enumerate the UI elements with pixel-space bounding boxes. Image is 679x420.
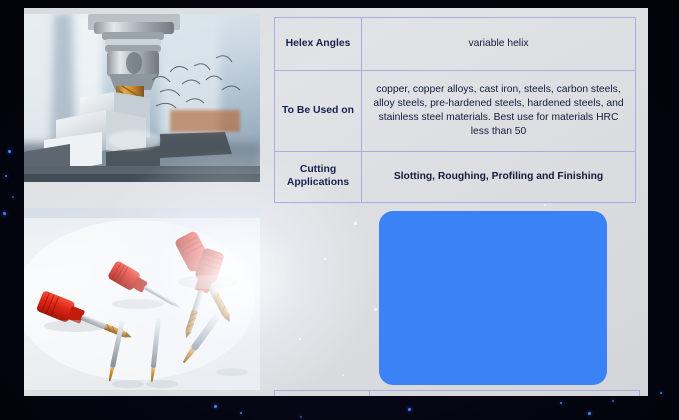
table-row: Helex Angles variable helix <box>275 18 636 71</box>
row-value-helex-angles: variable helix <box>362 18 636 71</box>
row-value-cutting-applications: Slotting, Roughing, Profiling and Finish… <box>362 152 636 203</box>
cnc-milling-machine-photo <box>24 14 260 182</box>
sparkle-dot <box>588 412 591 415</box>
table-row: To Be Used on copper, copper alloys, cas… <box>275 71 636 152</box>
content-panel: Helex Angles variable helix To Be Used o… <box>24 8 648 396</box>
sparkle-dot <box>560 402 562 404</box>
row-label-material: Material <box>275 391 370 397</box>
sparkle-dot <box>5 175 7 177</box>
sparkle-dot <box>612 400 614 402</box>
product-info-graphic: Helex Angles variable helix To Be Used o… <box>0 0 679 420</box>
particle-dot <box>374 308 377 311</box>
table-row: Cutting Applications Slotting, Roughing,… <box>275 152 636 203</box>
highlight-block <box>379 211 607 385</box>
sparkle-dot <box>3 212 6 215</box>
row-value-material: Micrograin Carbide <box>370 391 640 397</box>
particle-dot <box>299 338 301 340</box>
sparkle-dot <box>660 392 662 394</box>
row-label-helex-angles: Helex Angles <box>275 18 362 71</box>
sparkle-dot <box>240 412 242 414</box>
table-row: Material Micrograin Carbide <box>275 391 640 397</box>
row-label-cutting-applications: Cutting Applications <box>275 152 362 203</box>
sparkle-dot <box>300 416 302 418</box>
construction-table: Material Micrograin Carbide FINISH COATI… <box>274 390 640 396</box>
sparkle-dot <box>408 408 411 411</box>
particle-dot <box>454 360 456 362</box>
row-value-to-be-used-on: copper, copper alloys, cast iron, steels… <box>362 71 636 152</box>
particle-dot <box>324 258 326 260</box>
particle-dot <box>354 222 357 225</box>
sparkle-dot <box>8 150 11 153</box>
row-label-to-be-used-on: To Be Used on <box>275 71 362 152</box>
particle-dot <box>544 204 546 206</box>
sparkle-dot <box>214 405 217 408</box>
end-mill-cutters-photo <box>24 208 260 390</box>
specifications-table: Helex Angles variable helix To Be Used o… <box>274 17 636 203</box>
sparkle-dot <box>12 196 14 198</box>
particle-dot <box>342 374 344 376</box>
